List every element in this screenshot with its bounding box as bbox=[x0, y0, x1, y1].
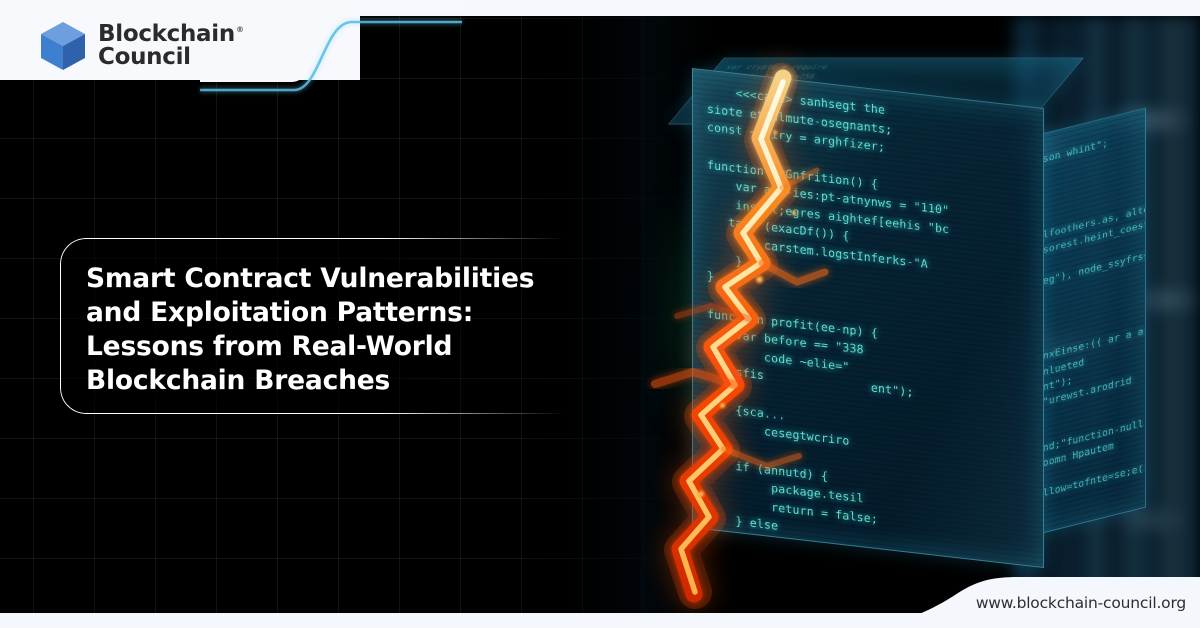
cube-code-front: <<<case> sanhsegt the siote ettdlmute-os… bbox=[693, 69, 1043, 567]
page-title: Smart Contract Vulnerabilities and Explo… bbox=[86, 262, 606, 398]
title-line-1: Smart Contract Vulnerabilities bbox=[86, 262, 606, 296]
website-url[interactable]: www.blockchain-council.org bbox=[976, 594, 1186, 612]
cube-face-front: <<<case> sanhsegt the siote ettdlmute-os… bbox=[692, 68, 1044, 568]
blockchain-cube-icon bbox=[38, 20, 88, 72]
brand-logo[interactable]: Blockchain® Council bbox=[38, 20, 244, 72]
title-line-4: Blockchain Breaches bbox=[86, 364, 606, 398]
cube-code-side: ison whint"; alfoothers.as, altom tsores… bbox=[1031, 109, 1145, 535]
brand-name: Blockchain® Council bbox=[98, 23, 244, 69]
brand-name-line1: Blockchain® bbox=[98, 23, 244, 46]
title-line-3: Lessons from Real-World bbox=[86, 330, 606, 364]
cube-face-side: ison whint"; alfoothers.as, altom tsores… bbox=[1030, 108, 1146, 537]
registered-mark: ® bbox=[236, 25, 244, 34]
title-line-2: and Exploitation Patterns: bbox=[86, 296, 606, 330]
url-plate bbox=[870, 553, 1200, 628]
brand-name-line2: Council bbox=[98, 46, 244, 69]
blog-hero-banner: var crypto = require const hash = sha256… bbox=[0, 0, 1200, 628]
url-plate-svg bbox=[870, 553, 1200, 628]
